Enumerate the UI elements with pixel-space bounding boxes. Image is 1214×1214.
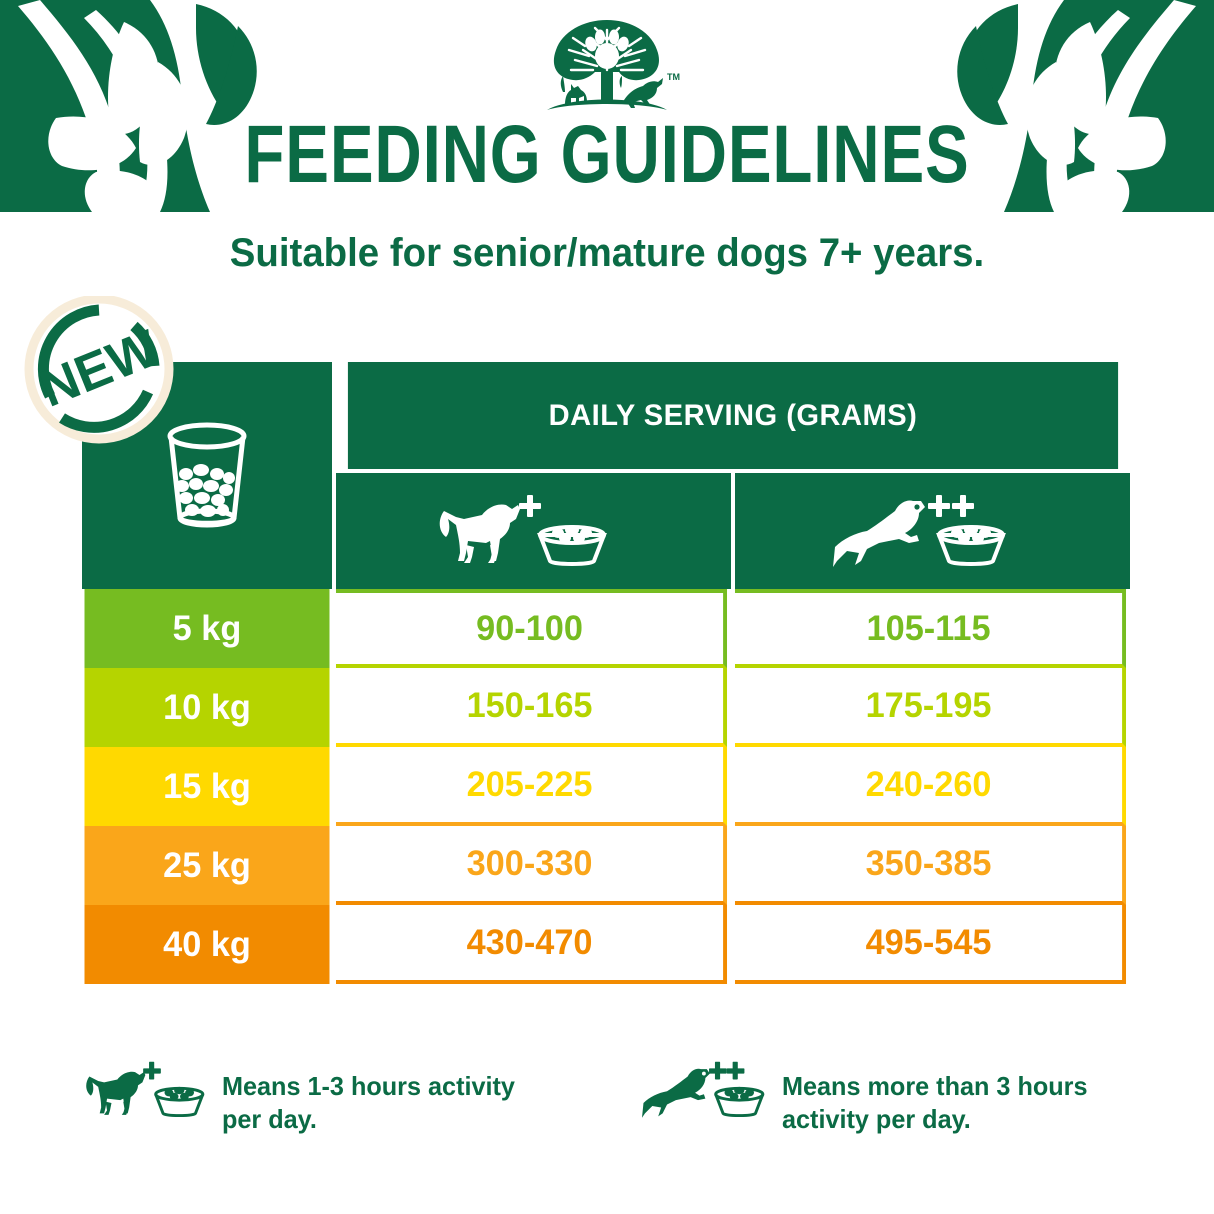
high-activity-cell: 105-115 [735, 589, 1126, 668]
table-row: 15 kg 205-225 240-260 [82, 747, 1130, 826]
weight-cell: 40 kg [85, 905, 330, 984]
legend-text-low-activity: Means 1-3 hours activity per day. [222, 1046, 515, 1136]
feeding-guidelines-page: TM FEEDING GUIDELINES Suitable for senio… [0, 0, 1214, 1214]
page-title: FEEDING GUIDELINES [121, 112, 1092, 198]
legend-item-low-activity: Means 1-3 hours activity per day. [82, 1046, 642, 1166]
daily-serving-header: DAILY SERVING (GRAMS) [348, 362, 1118, 469]
tree-paw-cat-dog-logo-icon: TM [527, 16, 687, 116]
new-badge: NEW [22, 296, 176, 446]
low-activity-cell: 300-330 [336, 826, 727, 905]
trademark-mark: TM [667, 72, 680, 82]
table-row: 5 kg 90-100 105-115 [82, 589, 1130, 668]
legend-line-1: Means more than 3 hours [782, 1070, 1088, 1103]
high-activity-cell: 495-545 [735, 905, 1126, 984]
legend: Means 1-3 hours activity per day. [82, 1046, 1142, 1166]
weight-cell: 10 kg [85, 668, 330, 747]
legend-text-high-activity: Means more than 3 hours activity per day… [782, 1046, 1088, 1136]
weight-cell: 5 kg [85, 589, 330, 668]
legend-line-2: per day. [222, 1103, 515, 1136]
page-subtitle: Suitable for senior/mature dogs 7+ years… [24, 228, 1189, 278]
table-row: 40 kg 430-470 495-545 [82, 905, 1130, 984]
weight-cell: 25 kg [85, 826, 330, 905]
high-activity-cell: 175-195 [735, 668, 1126, 747]
standing-dog-bowl-icon-header [336, 473, 731, 589]
low-activity-cell: 90-100 [336, 589, 727, 668]
standing-dog-bowl-icon [82, 1046, 222, 1132]
table-row: 25 kg 300-330 350-385 [82, 826, 1130, 905]
weight-cell: 15 kg [85, 747, 330, 826]
high-activity-cell: 350-385 [735, 826, 1126, 905]
table-header: DAILY SERVING (GRAMS) [82, 362, 1130, 589]
high-activity-cell: 240-260 [735, 747, 1126, 826]
table-row: 10 kg 150-165 175-195 [82, 668, 1130, 747]
low-activity-cell: 150-165 [336, 668, 727, 747]
legend-line-1: Means 1-3 hours activity [222, 1070, 515, 1103]
low-activity-cell: 205-225 [336, 747, 727, 826]
feeding-table: DAILY SERVING (GRAMS) [82, 362, 1130, 984]
jumping-dog-bowl-icon [642, 1046, 782, 1132]
legend-line-2: activity per day. [782, 1103, 1088, 1136]
low-activity-cell: 430-470 [336, 905, 727, 984]
legend-item-high-activity: Means more than 3 hours activity per day… [642, 1046, 1142, 1166]
jumping-dog-bowl-icon-header [735, 473, 1130, 589]
